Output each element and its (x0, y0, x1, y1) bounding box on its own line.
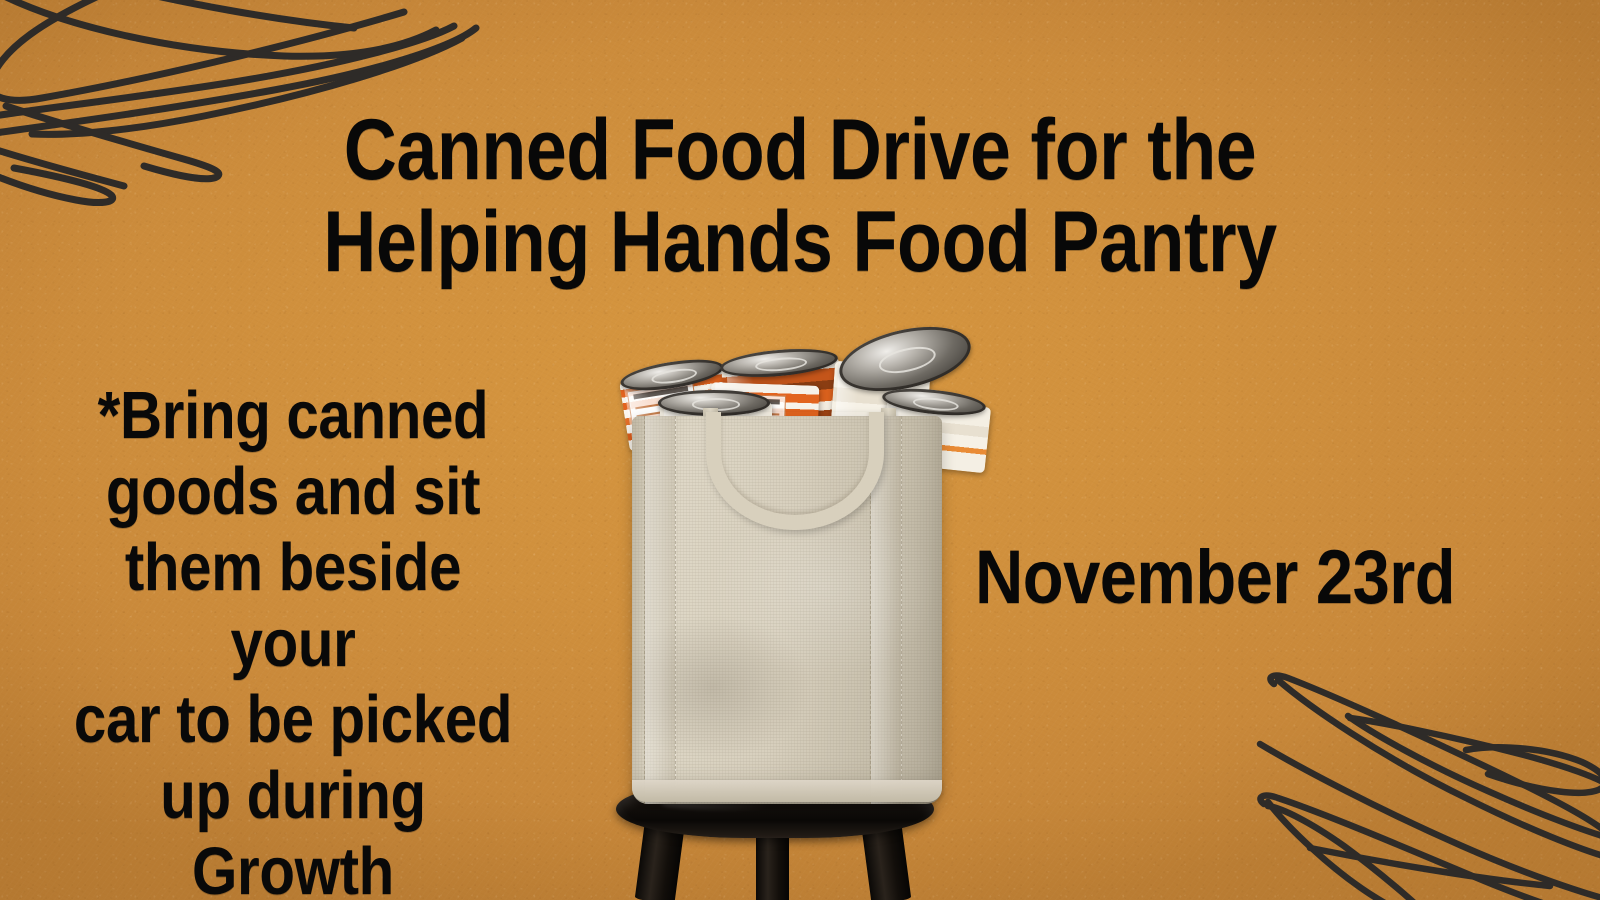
tote-seam-left (644, 416, 676, 804)
event-date: November 23rd (975, 540, 1455, 616)
tote-bag-hem (632, 780, 942, 802)
poster-canvas: Canned Food Drive for the Helping Hands … (0, 0, 1600, 900)
instructions-text: *Bring canned goods and sit them beside … (68, 378, 519, 900)
tote-bag-photo (598, 318, 1002, 900)
page-title: Canned Food Drive for the Helping Hands … (116, 104, 1484, 288)
